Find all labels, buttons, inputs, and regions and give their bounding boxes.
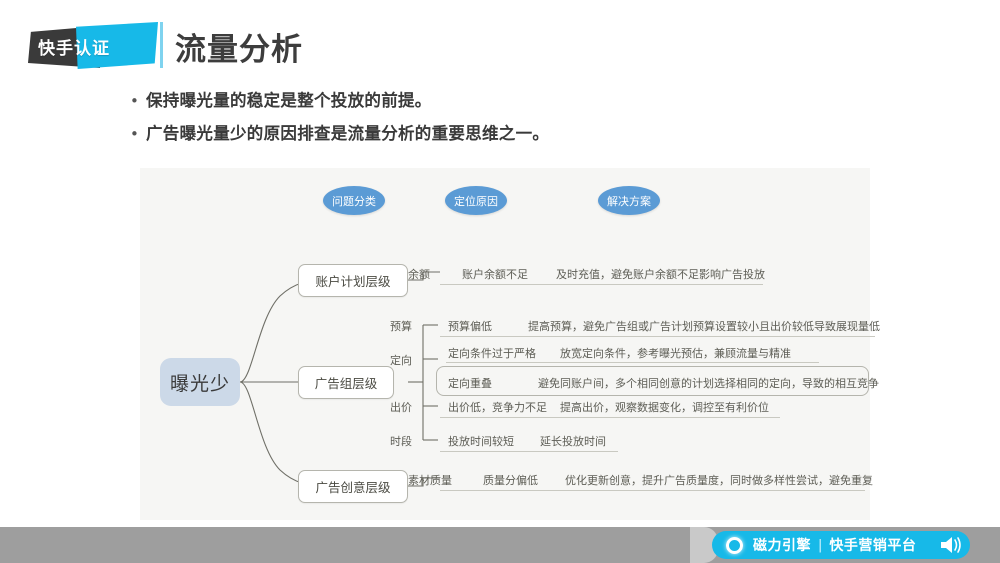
leaf-solution: 避免同账户间，多个相同创意的计划选择相同的定向，导致的相互竞争 bbox=[538, 375, 879, 391]
column-bubble-problem-category: 问题分类 bbox=[323, 186, 385, 215]
leaf-solution: 提高预算，避免广告组或广告计划预算设置较小且出价较低导致展现量低 bbox=[528, 318, 880, 334]
branch-node-label: 账户计划层级 bbox=[315, 271, 390, 290]
leaf-underline bbox=[440, 284, 763, 285]
brand-subtitle: 快手营销平台 bbox=[829, 535, 916, 555]
bullet-item: • 广告曝光量少的原因排查是流量分析的重要思维之一。 bbox=[130, 121, 950, 147]
leaf-underline bbox=[440, 451, 618, 452]
page-title: 流量分析 bbox=[175, 24, 303, 69]
brand-pill: 磁力引擎 | 快手营销平台 bbox=[712, 531, 970, 559]
leaf-problem: 出价低，竞争力不足 bbox=[448, 399, 547, 415]
leaf-underline bbox=[440, 490, 865, 491]
bullet-list: • 保持曝光量的稳定是整个投放的前提。 • 广告曝光量少的原因排查是流量分析的重… bbox=[130, 88, 950, 154]
leaf-solution: 及时充值，避免账户余额不足影响广告投放 bbox=[556, 266, 765, 282]
leaf-problem: 定向条件过于严格 bbox=[448, 345, 536, 361]
bullet-marker-icon: • bbox=[130, 121, 146, 147]
branch-node-account-plan-level: 账户计划层级 bbox=[298, 264, 408, 297]
leaf-underline bbox=[440, 336, 875, 337]
leaf-solution: 优化更新创意，提升广告质量度，同时做多样性尝试，避免重复 bbox=[565, 472, 873, 488]
leaf-category: 出价 bbox=[390, 399, 412, 415]
leaf-solution: 延长投放时间 bbox=[540, 433, 606, 449]
bullet-text: 保持曝光量的稳定是整个投放的前提。 bbox=[146, 88, 432, 114]
speaker-icon[interactable] bbox=[937, 533, 965, 557]
connector-lines bbox=[140, 168, 870, 520]
root-node-low-exposure: 曝光少 bbox=[160, 358, 240, 406]
leaf-problem: 投放时间较短 bbox=[448, 433, 514, 449]
kuaishou-certification-logo: 快手认证 bbox=[28, 22, 163, 70]
leaf-solution: 放宽定向条件，参考曝光预估，兼顾流量与精准 bbox=[560, 345, 791, 361]
slide-footer: 磁力引擎 | 快手营销平台 bbox=[0, 527, 1000, 563]
leaf-solution: 提高出价，观察数据变化，调控至有利价位 bbox=[560, 399, 769, 415]
bubble-label: 解决方案 bbox=[607, 193, 651, 209]
leaf-problem: 账户余额不足 bbox=[462, 266, 528, 282]
leaf-category: 时段 bbox=[390, 433, 412, 449]
leaf-problem: 质量分偏低 bbox=[483, 472, 538, 488]
magnetic-engine-logo-icon bbox=[726, 537, 743, 554]
leaf-category: 素材质量 bbox=[408, 472, 452, 488]
bullet-text: 广告曝光量少的原因排查是流量分析的重要思维之一。 bbox=[146, 121, 549, 147]
leaf-underline bbox=[446, 362, 819, 363]
bullet-marker-icon: • bbox=[130, 88, 146, 114]
branch-node-label: 广告组层级 bbox=[315, 373, 378, 392]
title-divider bbox=[160, 22, 163, 68]
bullet-item: • 保持曝光量的稳定是整个投放的前提。 bbox=[130, 88, 950, 114]
leaf-problem: 定向重叠 bbox=[448, 375, 492, 391]
logo-label: 快手认证 bbox=[38, 34, 158, 59]
leaf-category: 余额 bbox=[408, 266, 430, 282]
slide-header: 快手认证 流量分析 bbox=[0, 0, 1000, 88]
leaf-category: 定向 bbox=[390, 352, 412, 368]
column-bubble-locate-cause: 定位原因 bbox=[445, 186, 507, 215]
brand-name: 磁力引擎 bbox=[753, 535, 811, 555]
leaf-problem: 预算偏低 bbox=[448, 318, 492, 334]
bubble-label: 问题分类 bbox=[332, 193, 376, 209]
leaf-category: 预算 bbox=[390, 318, 412, 334]
root-node-label: 曝光少 bbox=[170, 369, 230, 396]
branch-node-label: 广告创意层级 bbox=[315, 477, 390, 496]
bubble-label: 定位原因 bbox=[454, 193, 498, 209]
column-bubble-solution: 解决方案 bbox=[598, 186, 660, 215]
branch-node-ad-group-level: 广告组层级 bbox=[298, 366, 394, 399]
brand-separator: | bbox=[818, 538, 822, 553]
mindmap-diagram: 问题分类 定位原因 解决方案 曝光少 账户计划层级 广告组层级 广告创意层级 余… bbox=[140, 168, 870, 520]
leaf-underline bbox=[440, 417, 780, 418]
branch-node-ad-creative-level: 广告创意层级 bbox=[298, 470, 408, 503]
